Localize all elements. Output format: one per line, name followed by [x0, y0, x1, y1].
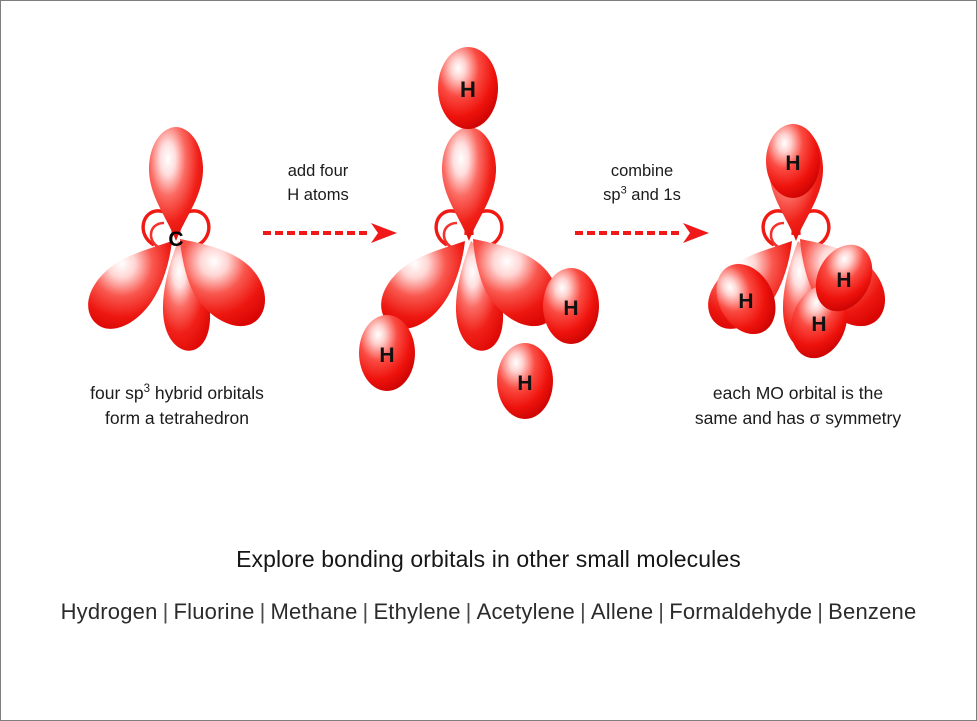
hydrogen-label: H [517, 372, 532, 395]
stage2-sp3-orbital-cluster [381, 127, 558, 351]
stage1-caption-pre: four sp [90, 383, 144, 403]
carbon-nucleus-label: C [168, 228, 183, 251]
hydrogen-label: H [460, 77, 476, 102]
stage3-caption-line1: each MO orbital is the [673, 381, 923, 406]
molecule-link-acetylene[interactable]: Acetylene [477, 599, 575, 624]
link-separator: | [653, 599, 669, 624]
stage1-caption-line2: form a tetrahedron [46, 406, 308, 431]
arrow2-label-line2-post: and 1s [627, 186, 681, 204]
stage2-hydrogen-right: H [543, 268, 599, 344]
molecule-link-formaldehyde[interactable]: Formaldehyde [669, 599, 812, 624]
stage1-caption-line1: four sp3 hybrid orbitals [46, 381, 308, 406]
link-separator: | [812, 599, 828, 624]
molecule-link-fluorine[interactable]: Fluorine [173, 599, 254, 624]
stage1-caption-post: hybrid orbitals [150, 383, 264, 403]
molecule-link-hydrogen[interactable]: Hydrogen [61, 599, 158, 624]
arrow2-label-line2-pre: sp [603, 186, 620, 204]
explore-title: Explore bonding orbitals in other small … [1, 546, 976, 573]
slide-page: C H H H [0, 0, 977, 721]
hydrogen-label: H [379, 344, 394, 367]
molecule-link-allene[interactable]: Allene [591, 599, 653, 624]
stage2-hydrogen-left: H [359, 315, 415, 391]
molecule-link-methane[interactable]: Methane [271, 599, 358, 624]
molecule-link-ethylene[interactable]: Ethylene [373, 599, 460, 624]
hydrogen-label: H [785, 152, 800, 175]
link-separator: | [461, 599, 477, 624]
orbital-diagram: C H H H [1, 1, 976, 501]
hydrogen-label: H [563, 297, 578, 320]
arrow1-label: add four H atoms [263, 159, 373, 207]
arrow2-label-line2: sp3 and 1s [577, 183, 707, 207]
stage3-caption-line2: same and has σ symmetry [673, 406, 923, 431]
hydrogen-label: H [811, 313, 826, 336]
link-separator: | [158, 599, 174, 624]
arrow-combine-sp3-1s [577, 223, 709, 243]
arrow-add-h-atoms [265, 223, 397, 243]
arrow2-label-line1: combine [577, 159, 707, 183]
stage3-hydrogen-top: H [766, 124, 820, 198]
stage2-hydrogen-top: H [438, 47, 498, 129]
molecule-link-benzene[interactable]: Benzene [828, 599, 916, 624]
stage1-caption: four sp3 hybrid orbitals form a tetrahed… [46, 381, 308, 431]
stage3-caption: each MO orbital is the same and has σ sy… [673, 381, 923, 431]
bottom-section: Explore bonding orbitals in other small … [1, 546, 976, 625]
link-separator: | [575, 599, 591, 624]
hydrogen-label: H [738, 290, 753, 313]
arrow1-label-line2: H atoms [263, 183, 373, 207]
arrow1-label-line1: add four [263, 159, 373, 183]
link-separator: | [255, 599, 271, 624]
hydrogen-label: H [836, 269, 851, 292]
arrow2-label: combine sp3 and 1s [577, 159, 707, 207]
molecule-links-row: Hydrogen|Fluorine|Methane|Ethylene|Acety… [1, 599, 976, 625]
stage2-hydrogen-bottom: H [497, 343, 553, 419]
link-separator: | [358, 599, 374, 624]
